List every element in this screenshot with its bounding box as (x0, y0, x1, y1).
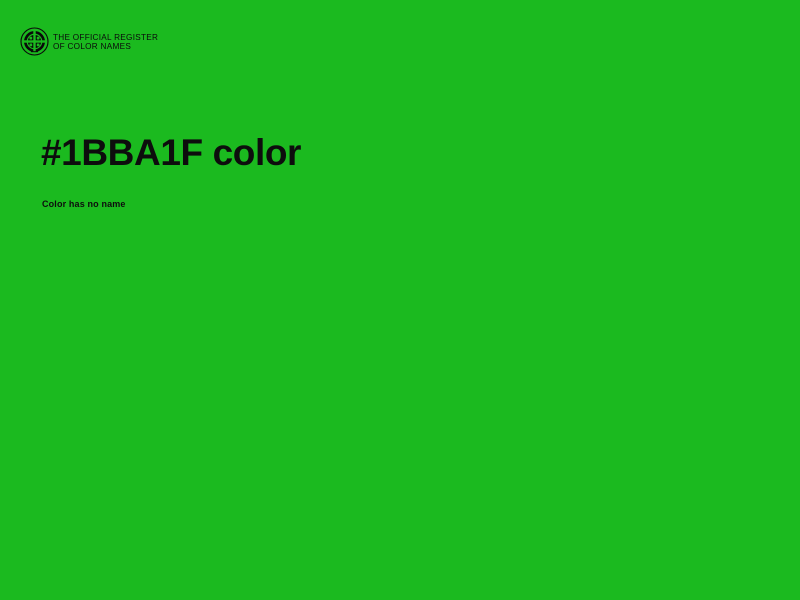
brand-text: THE OFFICIAL REGISTER OF COLOR NAMES (53, 32, 158, 52)
color-page: THE OFFICIAL REGISTER OF COLOR NAMES #1B… (0, 0, 800, 600)
brand-line-2: OF COLOR NAMES (53, 42, 158, 52)
page-title: #1BBA1F color (41, 132, 301, 174)
brand-line-1: THE OFFICIAL REGISTER (53, 33, 158, 43)
orcn-seal-icon (20, 27, 49, 56)
color-name-status: Color has no name (42, 199, 126, 209)
brand-lockup[interactable]: THE OFFICIAL REGISTER OF COLOR NAMES (20, 27, 158, 56)
